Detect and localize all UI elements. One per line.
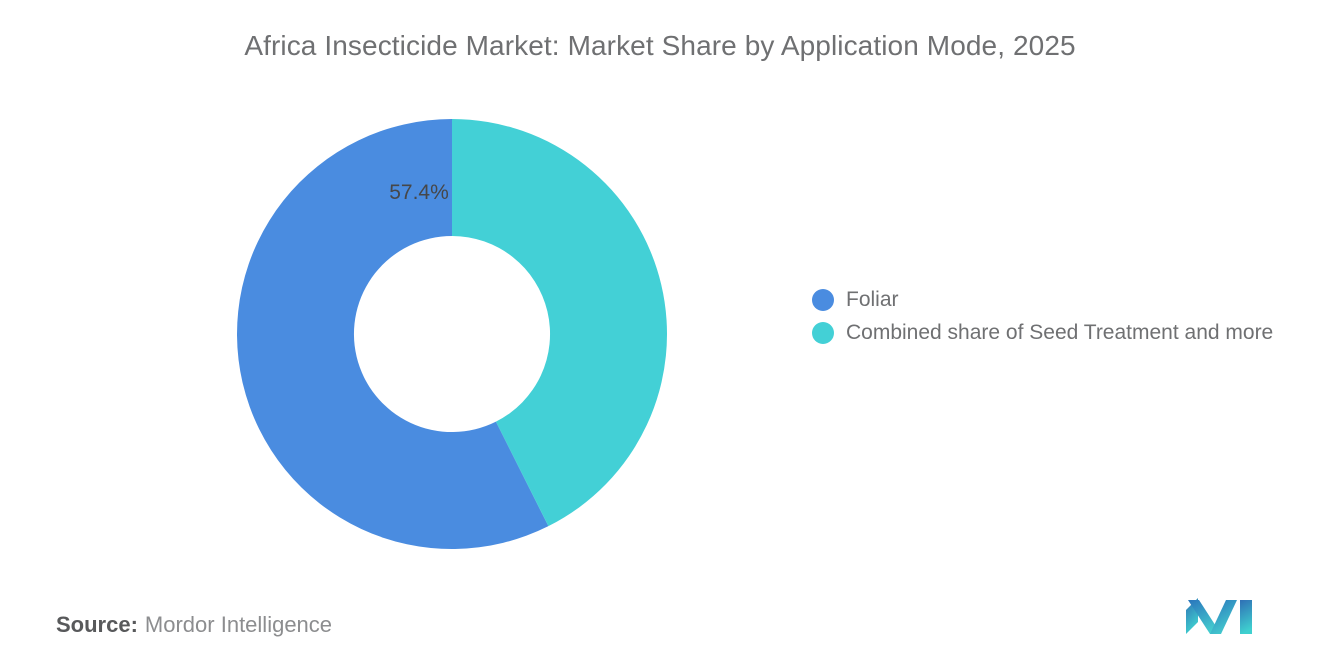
mordor-intelligence-logo-icon [1186,598,1252,634]
mordor-intelligence-logo-svg [1186,598,1252,634]
source-line: Source:Mordor Intelligence [56,612,332,638]
legend-item-label-combined-share: Combined share of Seed Treatment and mor… [846,321,1273,345]
legend-swatch-icon-combined-share [812,322,834,344]
legend-item-combined-share[interactable]: Combined share of Seed Treatment and mor… [812,316,1273,349]
chart-page: Africa Insecticide Market: Market Share … [0,0,1320,665]
source-label: Source: [56,612,138,637]
legend-swatch-icon-foliar [812,289,834,311]
page-title: Africa Insecticide Market: Market Share … [0,30,1320,62]
legend-item-foliar[interactable]: Foliar [812,283,1273,316]
donut-chart: 57.4% [237,119,667,549]
legend-item-label-foliar: Foliar [846,288,899,312]
source-value: Mordor Intelligence [145,612,332,637]
donut-chart-svg [237,119,667,549]
legend: Foliar Combined share of Seed Treatment … [812,283,1273,349]
